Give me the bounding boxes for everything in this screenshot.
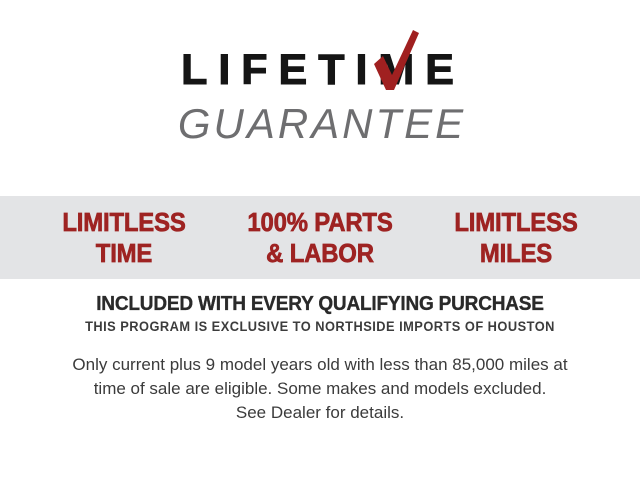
disclaimer: Only current plus 9 model years old with…	[0, 353, 640, 425]
feature-line: LIMITLESS	[426, 207, 606, 238]
guarantee-text: GUARANTEE	[0, 100, 640, 148]
headline: INCLUDED WITH EVERY QUALIFYING PURCHASE	[16, 292, 624, 316]
feature-band: LIMITLESS TIME 100% PARTS & LABOR LIMITL…	[0, 196, 640, 279]
feature-column-time: LIMITLESS TIME	[26, 207, 222, 269]
logo-block: LIFETIME GUARANTEE	[0, 44, 640, 164]
lifetime-wordmark: LIFETIME	[175, 44, 465, 96]
feature-line: 100% PARTS	[230, 207, 410, 238]
feature-column-miles: LIMITLESS MILES	[418, 207, 614, 269]
disclaimer-line: time of sale are eligible. Some makes an…	[28, 377, 612, 401]
feature-line: & LABOR	[230, 238, 410, 269]
feature-line: TIME	[34, 238, 214, 269]
subheadline: THIS PROGRAM IS EXCLUSIVE TO NORTHSIDE I…	[16, 317, 624, 336]
feature-line: LIMITLESS	[34, 207, 214, 238]
disclaimer-line: Only current plus 9 model years old with…	[28, 353, 612, 377]
lower-text-block: INCLUDED WITH EVERY QUALIFYING PURCHASE …	[0, 292, 640, 425]
disclaimer-line: See Dealer for details.	[28, 401, 612, 425]
lifetime-guarantee-ad: LIFETIME GUARANTEE LIMITLESS TIME 100% P…	[0, 0, 640, 480]
lifetime-text: LIFETIME	[175, 46, 465, 94]
feature-column-parts-labor: 100% PARTS & LABOR	[222, 207, 418, 269]
feature-line: MILES	[426, 238, 606, 269]
